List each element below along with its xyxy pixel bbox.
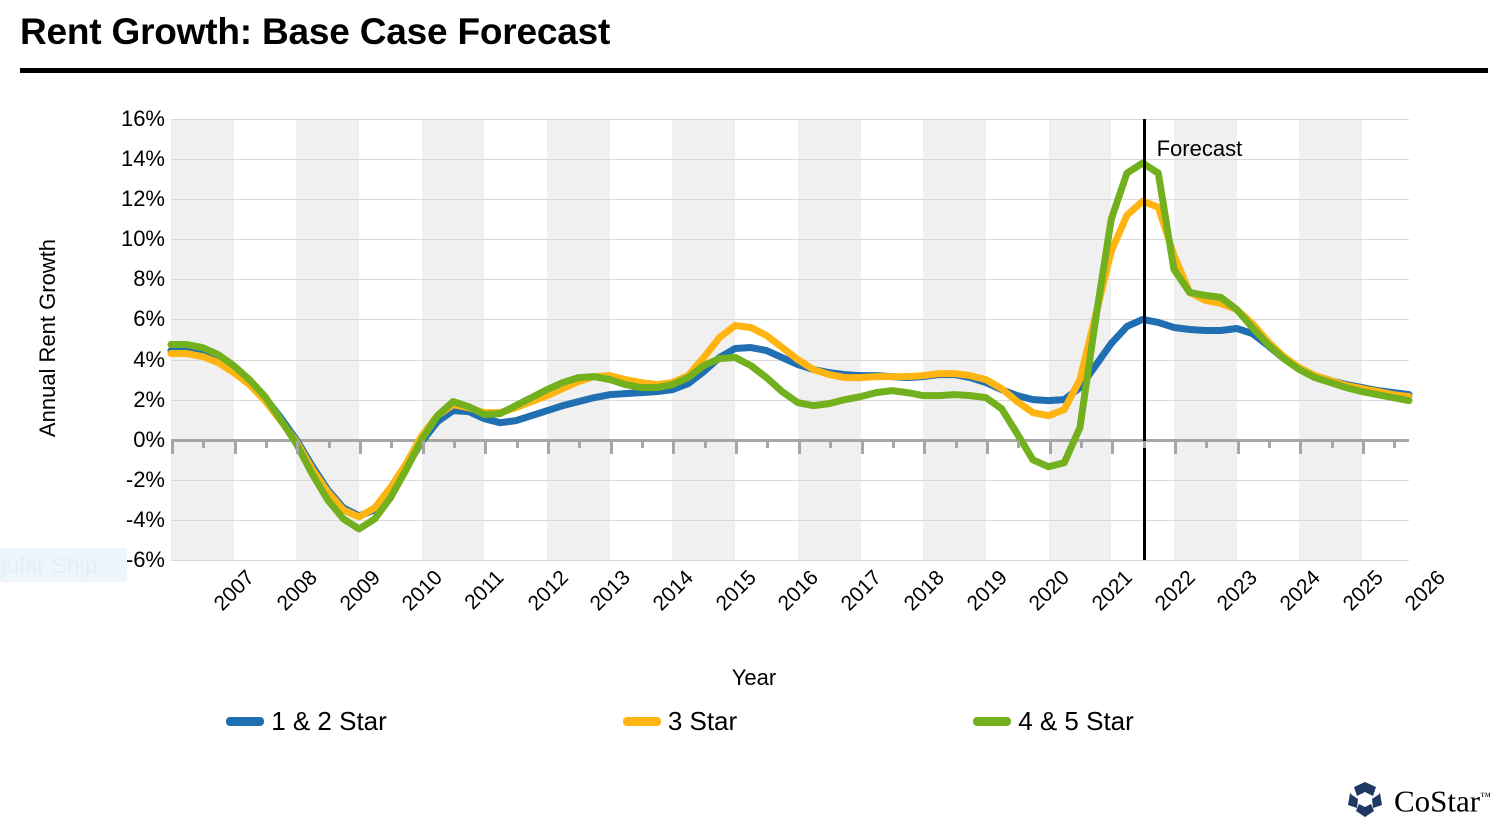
x-tick-major bbox=[861, 441, 864, 454]
x-tick-major bbox=[735, 441, 738, 454]
x-tick-minor bbox=[453, 441, 456, 448]
forecast-annotation-label: Forecast bbox=[1157, 136, 1243, 162]
x-tick-major bbox=[234, 441, 237, 454]
x-tick-minor bbox=[1143, 441, 1146, 448]
x-tick-label: 2025 bbox=[1338, 566, 1388, 616]
x-tick-label: 2011 bbox=[460, 566, 509, 615]
x-axis-tick-labels: 2007200820092010201120122013201420152016… bbox=[0, 560, 1508, 650]
x-tick-label: 2008 bbox=[273, 566, 323, 616]
x-tick-major bbox=[798, 441, 801, 454]
x-tick-label: 2021 bbox=[1088, 566, 1138, 616]
y-tick-label: 2% bbox=[10, 389, 165, 411]
x-tick-label: 2013 bbox=[586, 566, 636, 616]
x-tick-label: 2022 bbox=[1150, 566, 1200, 616]
x-tick-minor bbox=[766, 441, 769, 448]
x-tick-minor bbox=[704, 441, 707, 448]
logo-shard bbox=[1356, 804, 1374, 817]
x-tick-label: 2010 bbox=[398, 566, 448, 616]
x-tick-minor bbox=[1268, 441, 1271, 448]
costar-name: CoStar bbox=[1394, 783, 1480, 818]
x-tick-major bbox=[1049, 441, 1052, 454]
x-tick-major bbox=[296, 441, 299, 454]
x-tick-minor bbox=[1393, 441, 1396, 448]
x-tick-major bbox=[1174, 441, 1177, 454]
y-tick-label: 14% bbox=[10, 148, 165, 170]
y-tick-label: 12% bbox=[10, 188, 165, 210]
x-tick-major bbox=[923, 441, 926, 454]
x-tick-label: 2009 bbox=[335, 566, 385, 616]
legend-line-swatch-icon bbox=[226, 717, 264, 726]
page-title: Rent Growth: Base Case Forecast bbox=[20, 11, 610, 53]
x-tick-minor bbox=[516, 441, 519, 448]
legend-line-swatch-icon bbox=[623, 717, 661, 726]
x-tick-major bbox=[1362, 441, 1365, 454]
x-tick-label: 2024 bbox=[1276, 566, 1326, 616]
legend-line-swatch-icon bbox=[973, 717, 1011, 726]
y-tick-label: -4% bbox=[10, 509, 165, 531]
x-tick-label: 2007 bbox=[210, 566, 260, 616]
x-tick-label: 2014 bbox=[649, 566, 699, 616]
x-tick-minor bbox=[641, 441, 644, 448]
y-tick-label: 4% bbox=[10, 349, 165, 371]
series-line bbox=[171, 163, 1409, 529]
x-tick-label: 2023 bbox=[1213, 566, 1263, 616]
y-tick-label: -2% bbox=[10, 469, 165, 491]
x-tick-major bbox=[610, 441, 613, 454]
logo-shard bbox=[1354, 782, 1376, 796]
plot-area bbox=[171, 119, 1409, 560]
x-tick-major bbox=[986, 441, 989, 454]
x-tick-minor bbox=[1331, 441, 1334, 448]
legend-label: 3 Star bbox=[668, 706, 737, 737]
chart-container: Annual Rent Growth 16%14%12%10%8%6%4%2%0… bbox=[0, 80, 1508, 839]
ship-tooltip-overlay: gular Ship bbox=[0, 548, 127, 582]
costar-logo: CoStar™ bbox=[1345, 779, 1491, 819]
x-tick-minor bbox=[390, 441, 393, 448]
y-axis-tick-labels: 16%14%12%10%8%6%4%2%0%-2%-4%-6% bbox=[0, 119, 165, 560]
x-tick-major bbox=[1237, 441, 1240, 454]
logo-shard bbox=[1372, 793, 1382, 808]
legend-label: 1 & 2 Star bbox=[271, 706, 387, 737]
x-tick-minor bbox=[829, 441, 832, 448]
x-tick-minor bbox=[1205, 441, 1208, 448]
x-tick-minor bbox=[1080, 441, 1083, 448]
x-tick-minor bbox=[578, 441, 581, 448]
x-tick-major bbox=[672, 441, 675, 454]
x-tick-major bbox=[171, 441, 174, 454]
x-tick-major bbox=[1111, 441, 1114, 454]
series-lines bbox=[171, 119, 1409, 560]
x-tick-major bbox=[422, 441, 425, 454]
x-tick-minor bbox=[265, 441, 268, 448]
x-axis-title: Year bbox=[0, 665, 1508, 691]
x-tick-minor bbox=[892, 441, 895, 448]
legend-item[interactable]: 3 Star bbox=[623, 706, 737, 737]
x-tick-label: 2020 bbox=[1025, 566, 1075, 616]
title-block: Rent Growth: Base Case Forecast bbox=[0, 0, 1508, 80]
x-tick-major bbox=[484, 441, 487, 454]
x-tick-minor bbox=[328, 441, 331, 448]
forecast-divider-line bbox=[1143, 119, 1146, 560]
legend-label: 4 & 5 Star bbox=[1018, 706, 1134, 737]
chart-legend: 1 & 2 Star3 Star4 & 5 Star bbox=[0, 698, 1360, 744]
x-tick-minor bbox=[1017, 441, 1020, 448]
x-tick-label: 2012 bbox=[523, 566, 573, 616]
x-tick-label: 2015 bbox=[711, 566, 761, 616]
y-tick-label: 0% bbox=[10, 429, 165, 451]
x-tick-label: 2016 bbox=[774, 566, 824, 616]
series-line bbox=[171, 319, 1409, 515]
x-tick-minor bbox=[202, 441, 205, 448]
logo-shard bbox=[1348, 793, 1358, 808]
x-tick-major bbox=[359, 441, 362, 454]
y-tick-label: 10% bbox=[10, 228, 165, 250]
title-divider bbox=[20, 68, 1488, 73]
x-tick-major bbox=[1299, 441, 1302, 454]
y-tick-label: 6% bbox=[10, 308, 165, 330]
y-tick-label: 8% bbox=[10, 268, 165, 290]
x-tick-label: 2026 bbox=[1401, 566, 1451, 616]
costar-wordmark: CoStar™ bbox=[1394, 782, 1491, 816]
costar-pinwheel-icon bbox=[1345, 779, 1385, 819]
x-tick-label: 2019 bbox=[962, 566, 1012, 616]
x-tick-minor bbox=[955, 441, 958, 448]
costar-trademark: ™ bbox=[1480, 791, 1491, 803]
x-tick-label: 2018 bbox=[900, 566, 950, 616]
legend-item[interactable]: 1 & 2 Star bbox=[226, 706, 387, 737]
x-tick-major bbox=[547, 441, 550, 454]
x-tick-label: 2017 bbox=[837, 566, 887, 616]
y-tick-label: 16% bbox=[10, 108, 165, 130]
legend-item[interactable]: 4 & 5 Star bbox=[973, 706, 1134, 737]
